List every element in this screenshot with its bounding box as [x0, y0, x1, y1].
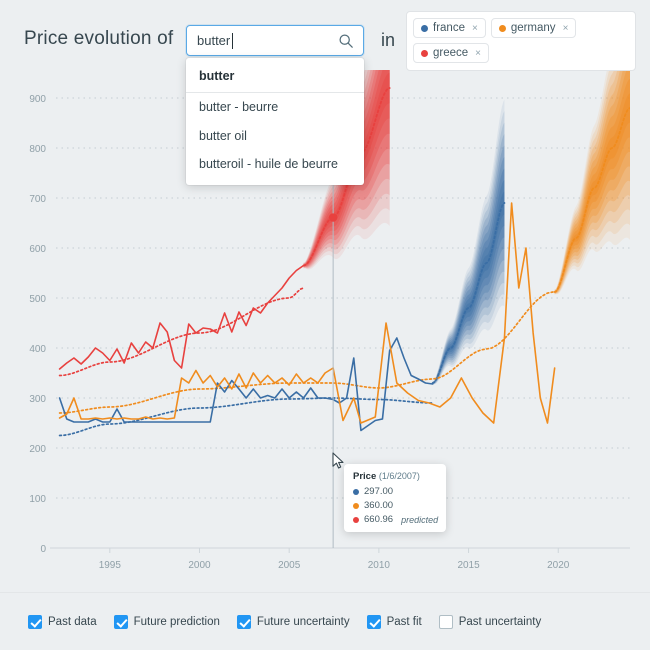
page-title: Price evolution of: [24, 28, 173, 50]
country-color-dot: [499, 25, 506, 32]
price-evolution-app: Price evolution of butter in butter butt…: [0, 0, 650, 650]
checkbox-past-uncertainty[interactable]: [439, 615, 453, 629]
country-chip-label: greece: [433, 47, 468, 59]
svg-text:2015: 2015: [457, 560, 480, 571]
tooltip-date: (1/6/2007): [379, 471, 420, 481]
svg-text:300: 300: [29, 394, 46, 405]
country-selector[interactable]: france × germany × greece ×: [406, 11, 636, 71]
chart-tooltip: Price (1/6/2007) 297.00 360.00 660.96 pr…: [344, 464, 446, 532]
country-chip-label: germany: [511, 22, 556, 34]
svg-text:500: 500: [29, 294, 46, 305]
country-chip-france[interactable]: france ×: [413, 18, 486, 38]
search-suggestions-dropdown[interactable]: butter butter - beurre butter oil butter…: [186, 58, 364, 185]
suggestion-item-3[interactable]: butteroil - huile de beurre: [186, 150, 364, 178]
display-options-bar[interactable]: Past data Future prediction Future uncer…: [0, 592, 650, 650]
checkbox-past-data[interactable]: [28, 615, 42, 629]
series-color-dot: [353, 503, 359, 509]
svg-text:2000: 2000: [188, 560, 211, 571]
tooltip-value: 360.00: [364, 500, 393, 511]
checkbox-future-uncertainty[interactable]: [237, 615, 251, 629]
svg-text:2020: 2020: [547, 560, 570, 571]
tooltip-row-germany: 360.00: [353, 500, 438, 511]
page-header: Price evolution of butter in butter butt…: [0, 0, 650, 70]
option-label: Future prediction: [134, 616, 220, 628]
series-color-dot: [353, 517, 359, 523]
svg-text:400: 400: [29, 344, 46, 355]
search-icon[interactable]: [338, 33, 354, 49]
option-label: Past data: [48, 616, 97, 628]
svg-text:100: 100: [29, 494, 46, 505]
option-label: Future uncertainty: [257, 616, 350, 628]
option-past-fit[interactable]: Past fit: [367, 615, 422, 629]
tooltip-title: Price: [353, 471, 376, 482]
remove-country-icon[interactable]: ×: [472, 23, 478, 34]
checkbox-past-fit[interactable]: [367, 615, 381, 629]
option-future-prediction[interactable]: Future prediction: [114, 615, 220, 629]
connector-label: in: [381, 30, 395, 51]
option-label: Past uncertainty: [459, 616, 541, 628]
suggestion-item-0[interactable]: butter: [186, 62, 364, 93]
svg-text:800: 800: [29, 144, 46, 155]
country-chip-germany[interactable]: germany ×: [491, 18, 577, 38]
remove-country-icon[interactable]: ×: [475, 48, 481, 59]
tooltip-value: 297.00: [364, 486, 393, 497]
tooltip-value: 660.96: [364, 514, 393, 525]
option-past-uncertainty[interactable]: Past uncertainty: [439, 615, 541, 629]
option-future-uncertainty[interactable]: Future uncertainty: [237, 615, 350, 629]
tooltip-header: Price (1/6/2007): [353, 471, 438, 482]
tooltip-note: predicted: [401, 515, 438, 525]
suggestion-item-1[interactable]: butter - beurre: [186, 93, 364, 121]
country-chip-greece[interactable]: greece ×: [413, 43, 489, 63]
svg-text:200: 200: [29, 444, 46, 455]
svg-text:600: 600: [29, 244, 46, 255]
svg-text:2010: 2010: [368, 560, 391, 571]
svg-text:700: 700: [29, 194, 46, 205]
tooltip-row-greece: 660.96 predicted: [353, 514, 438, 525]
svg-text:1995: 1995: [99, 560, 122, 571]
country-chip-label: france: [433, 22, 465, 34]
country-color-dot: [421, 25, 428, 32]
mouse-cursor-icon: [332, 452, 345, 475]
suggestion-item-2[interactable]: butter oil: [186, 122, 364, 150]
text-caret: [232, 33, 233, 49]
checkbox-future-prediction[interactable]: [114, 615, 128, 629]
tooltip-row-france: 297.00: [353, 486, 438, 497]
search-input[interactable]: butter: [197, 33, 230, 48]
option-label: Past fit: [387, 616, 422, 628]
series-color-dot: [353, 489, 359, 495]
svg-text:2005: 2005: [278, 560, 301, 571]
country-color-dot: [421, 50, 428, 57]
option-past-data[interactable]: Past data: [28, 615, 97, 629]
remove-country-icon[interactable]: ×: [563, 23, 569, 34]
svg-text:0: 0: [40, 544, 46, 555]
svg-text:900: 900: [29, 94, 46, 105]
product-search-box[interactable]: butter: [186, 25, 364, 56]
